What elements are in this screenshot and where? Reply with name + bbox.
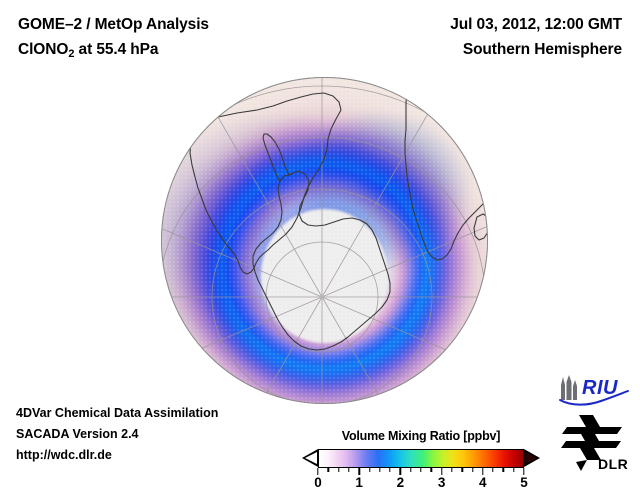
colorbar-tick-minor	[420, 468, 421, 472]
colorbar-tick-label: 0	[314, 475, 322, 490]
dlr-logo: DLR	[558, 414, 632, 472]
species-level: at 55.4 hPa	[74, 41, 158, 58]
colorbar-tick-major	[400, 468, 401, 475]
globe-disc	[161, 77, 488, 404]
colorbar-tick-minor	[389, 468, 390, 472]
colorbar-tick-minor	[369, 468, 370, 472]
coastline-antarctica	[253, 171, 390, 350]
colorbar-gradient	[318, 449, 524, 468]
riu-wordmark: RIU	[582, 377, 618, 399]
colorbar-tick-minor	[503, 468, 504, 472]
colorbar-title: Volume Mixing Ratio [ppbv]	[302, 429, 540, 443]
colorbar-tick-minor	[472, 468, 473, 472]
coastline-south-america	[190, 93, 341, 274]
colorbar-tick-minor	[451, 468, 452, 472]
colorbar: Volume Mixing Ratio [ppbv] 012345	[302, 429, 540, 468]
footer-credits: 4DVar Chemical Data Assimilation SACADA …	[16, 403, 218, 466]
colorbar-tick-label: 1	[355, 475, 363, 490]
colorbar-tick-label: 3	[438, 475, 446, 490]
globe-map	[161, 77, 488, 404]
graticule-meridians	[161, 77, 488, 404]
colorbar-tick-minor	[379, 468, 380, 472]
colorbar-tick-minor	[338, 468, 339, 472]
colorbar-tick-major	[482, 468, 483, 475]
colorbar-tick-major	[441, 468, 442, 475]
species-level-title: ClONO2 at 55.4 hPa	[18, 37, 209, 67]
colorbar-row: 012345	[302, 449, 540, 468]
datetime-label: Jul 03, 2012, 12:00 GMT	[450, 12, 622, 37]
colorbar-tick-minor	[348, 468, 349, 472]
colorbar-tick-minor	[513, 468, 514, 472]
colorbar-tick-label: 2	[397, 475, 405, 490]
colorbar-ticks	[318, 468, 524, 475]
dlr-wordmark: DLR	[598, 456, 628, 472]
colorbar-tick-major	[358, 468, 359, 475]
riu-logo: RIU	[558, 374, 630, 406]
colorbar-tick-label: 5	[520, 475, 528, 490]
colorbar-tick-label: 4	[479, 475, 487, 490]
coastlines	[190, 82, 488, 350]
species-name: ClONO	[18, 41, 68, 58]
header-right: Jul 03, 2012, 12:00 GMT Southern Hemisph…	[450, 12, 622, 62]
plot-canvas: GOME–2 / MetOp Analysis ClONO2 at 55.4 h…	[0, 0, 640, 480]
footer-line-version: SACADA Version 2.4	[16, 424, 218, 445]
colorbar-tick-major	[317, 468, 318, 475]
colorbar-extend-min-arrow	[302, 449, 318, 467]
south-pole-marker	[320, 295, 325, 300]
region-label: Southern Hemisphere	[450, 37, 622, 62]
colorbar-tick-minor	[461, 468, 462, 472]
colorbar-extend-max-arrow	[524, 449, 540, 467]
map-overlay-svg	[161, 77, 488, 404]
colorbar-tick-minor	[410, 468, 411, 472]
riu-towers-icon	[561, 375, 577, 400]
footer-line-url[interactable]: http://wdc.dlr.de	[16, 445, 218, 466]
colorbar-tick-minor	[431, 468, 432, 472]
header-left: GOME–2 / MetOp Analysis ClONO2 at 55.4 h…	[18, 12, 209, 67]
colorbar-tick-major	[523, 468, 524, 475]
colorbar-tick-minor	[328, 468, 329, 472]
coastline-africa	[405, 82, 488, 260]
footer-line-method: 4DVar Chemical Data Assimilation	[16, 403, 218, 424]
analysis-title: GOME–2 / MetOp Analysis	[18, 12, 209, 37]
colorbar-tick-labels: 012345	[318, 475, 524, 493]
colorbar-tick-minor	[492, 468, 493, 472]
graticule-latitudes	[161, 86, 488, 404]
